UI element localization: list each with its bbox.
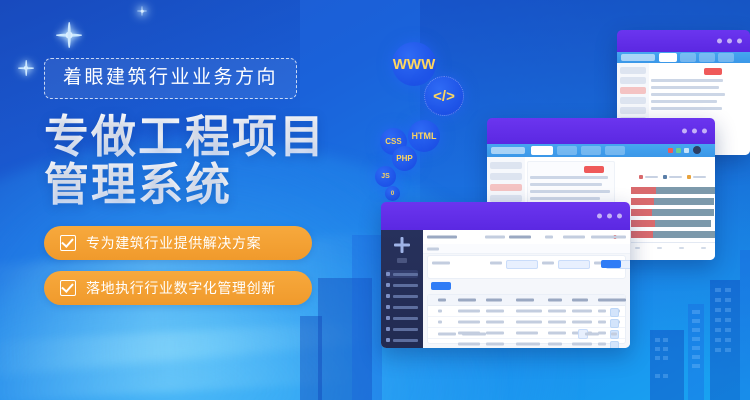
sidebar-item[interactable] [620,97,646,104]
row-action-icon[interactable] [610,308,619,317]
feature-pill-2[interactable]: 落地执行行业数字化管理创新 [44,271,312,305]
filter-label [490,262,502,265]
settings-icon[interactable] [684,148,689,153]
column-header [458,299,476,302]
message-icon[interactable] [676,148,681,153]
column-header [607,299,619,302]
app-logo-icon [394,237,410,253]
list-item[interactable] [530,176,608,179]
page-title: 专做工程项目 管理系统 [44,113,384,208]
sidebar [381,230,423,348]
sidebar-item-selected[interactable] [620,87,646,94]
chart-bar [631,220,715,227]
list-item[interactable] [530,190,610,193]
pagination-total [585,333,599,336]
tab-item[interactable] [718,53,734,62]
app-title [427,236,457,239]
tech-badge-html: HTML [408,120,440,152]
app-logo [621,54,655,61]
feature-pill-1[interactable]: 专为建筑行业提供解决方案 [44,226,312,260]
building-silhouette [650,330,684,400]
promo-copy: 着眼建筑行业业务方向 专做工程项目 管理系统 专为建筑行业提供解决方案 落地执行… [44,58,384,316]
feature-pill-1-label: 专为建筑行业提供解决方案 [86,233,261,253]
chart-bar [631,198,715,205]
list-item[interactable] [530,183,602,186]
dashboard-window-front[interactable] [381,202,630,348]
tech-badge-zero-label: 0 [391,191,394,197]
tab-active[interactable] [659,53,677,62]
column-header [548,299,562,302]
sidebar-item-settings[interactable] [386,336,418,344]
checkbox-checked-icon [60,235,76,251]
tech-badge-zero: 0 [385,186,400,201]
table-row [651,86,719,89]
promo-banner: 着眼建筑行业业务方向 专做工程项目 管理系统 专为建筑行业提供解决方案 落地执行… [0,0,750,400]
chart-legend [639,175,706,179]
filter-select[interactable] [558,260,590,269]
building-silhouette [688,304,704,400]
tech-badge-js: JS [375,166,396,187]
avatar[interactable] [693,146,701,154]
app-logo [491,147,525,154]
sidebar-item-materials[interactable] [386,303,418,311]
pagination-info [438,333,456,336]
topbar-menu-item-active[interactable] [509,236,531,239]
filter-toolbar [427,255,626,279]
filter-label [432,262,450,265]
row-action-icon[interactable] [610,319,619,328]
sidebar-collapse-button[interactable] [397,258,407,263]
app-topbar [423,230,630,245]
tech-badge-www-label: WWW [393,56,435,73]
table-row[interactable] [428,317,625,328]
column-header [438,299,446,302]
window-controls[interactable] [717,39,742,44]
column-header [516,299,534,302]
tech-badge-www: WWW [392,42,436,86]
sparkle-icon [18,60,34,76]
sidebar-item[interactable] [490,173,522,180]
add-button[interactable] [431,282,451,290]
background-light-ray-secondary [0,322,361,400]
sparkle-icon [56,22,82,48]
building-silhouette [710,280,740,400]
window-titlebar [617,30,750,52]
tab-item[interactable] [605,146,625,155]
sidebar-item[interactable] [620,77,646,84]
tech-badge-code-label: </> [433,88,455,105]
table-header [428,295,625,306]
window-controls[interactable] [682,129,707,134]
axis-tick [679,247,684,249]
sidebar-item-contracts[interactable] [386,292,418,300]
search-button[interactable] [601,260,621,268]
building-silhouette [300,316,322,400]
sidebar-item[interactable] [620,107,646,114]
topbar-menu-item[interactable] [563,236,585,239]
sidebar-item-finance[interactable] [386,325,418,333]
sidebar-item[interactable] [490,162,522,169]
chart-axis [631,242,715,243]
sparkle-icon [137,6,147,16]
topbar-user[interactable] [604,236,626,239]
row-action-icon[interactable] [610,341,619,348]
feature-list: 专为建筑行业提供解决方案 落地执行行业数字化管理创新 [44,226,384,305]
axis-tick [701,247,706,249]
topbar-menu-item[interactable] [485,236,505,239]
tab-item[interactable] [699,53,715,62]
tech-badge-js-label: JS [381,173,390,180]
building-silhouette [740,250,750,400]
search-button[interactable] [584,166,604,173]
filter-select[interactable] [506,260,538,269]
column-header [486,299,502,302]
table-row [651,100,717,103]
sidebar-item-projects[interactable] [386,281,418,289]
data-table [427,294,626,344]
tab-active[interactable] [531,146,553,155]
window-body [381,230,630,348]
sidebar-item-staff[interactable] [386,314,418,322]
window-controls[interactable] [597,214,622,219]
tab-item[interactable] [680,53,696,62]
pagination-info [462,333,486,336]
tech-badge-html-label: HTML [412,131,437,141]
sidebar-item-home[interactable] [386,270,418,278]
tab-item[interactable] [557,146,577,155]
axis-tick [635,247,640,249]
table-row[interactable] [428,306,625,317]
table-row[interactable] [428,339,625,348]
sidebar-item[interactable] [620,67,646,74]
tech-badge-php: PHP [392,146,417,171]
pagination-size[interactable] [611,333,617,336]
breadcrumb [423,244,630,254]
axis-tick [657,247,662,249]
headline-line-1: 专做工程项目 [44,113,384,161]
bar-chart [617,161,713,257]
tech-badge-css-label: CSS [385,137,401,146]
table-row [651,107,722,110]
tech-badge-php-label: PHP [396,154,412,163]
sidebar-item-selected[interactable] [490,184,522,191]
breadcrumb-text [427,247,439,250]
checkbox-checked-icon [60,280,76,296]
sidebar-item[interactable] [490,195,522,202]
table-row [651,93,725,96]
column-header [572,299,588,302]
chart-bar [631,187,715,194]
window-titlebar [381,202,630,230]
tech-badge-code: </> [424,76,464,116]
topbar-menu-item[interactable] [545,236,553,239]
tagline-text: 着眼建筑行业业务方向 [63,67,278,88]
list-item[interactable] [530,197,600,200]
notification-icon[interactable] [668,148,673,153]
tab-item[interactable] [581,146,601,155]
chart-bar [631,231,715,238]
feature-pill-2-label: 落地执行行业数字化管理创新 [86,278,276,298]
primary-button[interactable] [704,68,722,75]
table-row [651,79,723,82]
content-area [423,230,630,348]
window-titlebar [487,118,715,144]
chart-bar [631,209,715,216]
filter-label [542,262,554,265]
headline-line-2: 管理系统 [44,161,384,209]
tagline-box: 着眼建筑行业业务方向 [44,58,297,99]
